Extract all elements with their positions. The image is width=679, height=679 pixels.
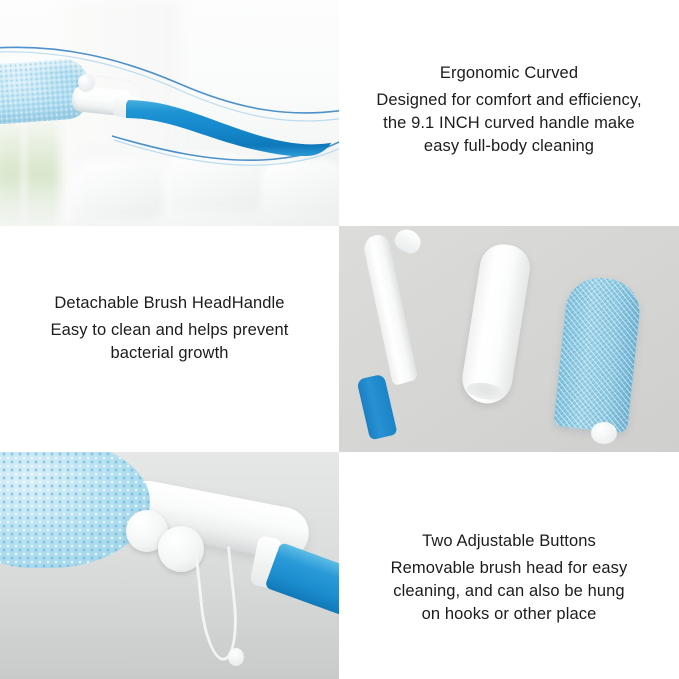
detachable-body-line-1: Easy to clean and helps prevent	[51, 319, 289, 342]
ergonomic-body-line-1: Designed for comfort and efficiency,	[376, 89, 641, 112]
buttons-body-line-3: on hooks or other place	[422, 603, 597, 626]
detachable-brush-head-text-panel: Detachable Brush HeadHandle Easy to clea…	[0, 226, 339, 452]
buttons-body-line-1: Removable brush head for easy	[391, 557, 628, 580]
detachable-body-line-2: bacterial growth	[110, 342, 228, 365]
detachable-headline: Detachable Brush HeadHandle	[54, 292, 284, 314]
handle-body	[126, 98, 336, 156]
mesh-sleeve-cap	[591, 422, 617, 444]
curved-handle-photo	[0, 0, 339, 226]
product-infographic: Ergonomic Curved Designed for comfort an…	[0, 0, 679, 679]
cord-knot	[228, 648, 244, 666]
adjustable-buttons-photo	[0, 452, 339, 679]
curved-blue-handle	[126, 98, 336, 156]
ergonomic-body-line-2: the 9.1 INCH curved handle make	[383, 112, 635, 135]
hanging-cord-loop	[194, 546, 242, 662]
blue-handle-end	[265, 542, 339, 618]
ergonomic-headline: Ergonomic Curved	[440, 62, 578, 84]
ergonomic-body-line-3: easy full-body cleaning	[424, 135, 594, 158]
mesh-sponge-closeup	[0, 452, 150, 568]
blue-mesh-sleeve	[553, 275, 642, 434]
handle-white-shaft	[362, 232, 418, 386]
connector-button	[78, 74, 94, 90]
buttons-headline: Two Adjustable Buttons	[422, 530, 596, 552]
handle-blue-grip	[356, 374, 397, 441]
handle-tip	[391, 226, 424, 257]
white-curved-handle-part	[377, 234, 403, 424]
two-adjustable-buttons-text-panel: Two Adjustable Buttons Removable brush h…	[339, 452, 679, 679]
disassembled-parts-photo	[339, 226, 679, 452]
ergonomic-curved-text-panel: Ergonomic Curved Designed for comfort an…	[339, 0, 679, 226]
buttons-body-line-2: cleaning, and can also be hung	[393, 580, 624, 603]
white-foam-cylinder	[459, 241, 533, 407]
